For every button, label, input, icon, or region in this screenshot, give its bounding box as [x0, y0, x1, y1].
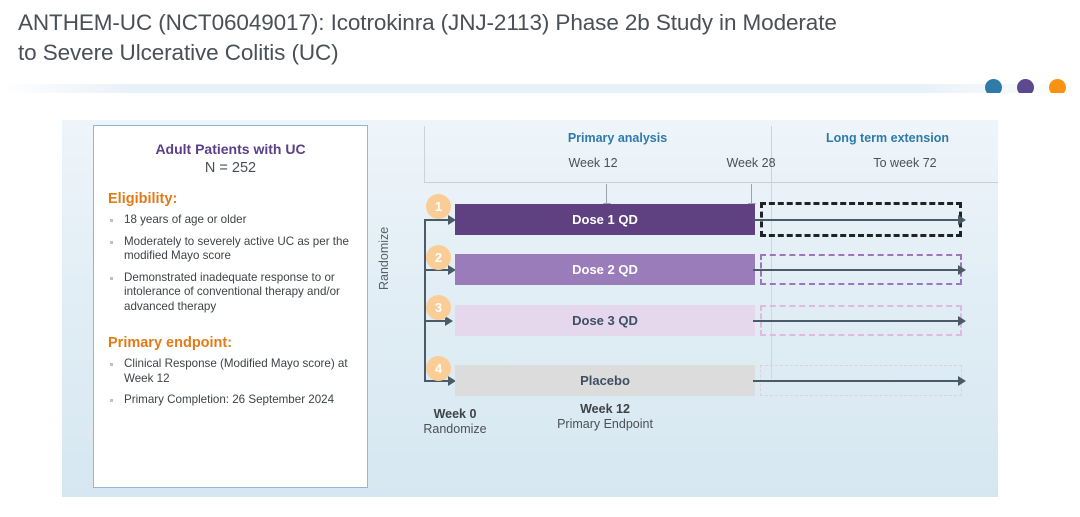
- arm-1-number-badge: 1: [426, 194, 451, 219]
- arm-4-number-badge: 4: [426, 356, 451, 381]
- arm-1-extension-arrow: [753, 219, 959, 221]
- card-title: Adult Patients with UC: [94, 126, 367, 158]
- phase-long-term-extension-title: Long term extension: [780, 131, 995, 145]
- phase-primary-analysis-title: Primary analysis: [525, 131, 710, 145]
- divider-under-headers: [424, 182, 998, 183]
- primary-endpoint-list: Clinical Response (Modified Mayo score) …: [94, 351, 367, 408]
- patient-info-card: Adult Patients with UC N = 252 Eligibili…: [93, 125, 368, 488]
- randomize-arm-1: [424, 219, 449, 221]
- list-item: Clinical Response (Modified Mayo score) …: [108, 357, 355, 386]
- arm-2-label: Dose 2 QD: [572, 262, 638, 277]
- content-stage: Adult Patients with UC N = 252 Eligibili…: [0, 93, 1080, 517]
- arm-2-extension-arrow: [753, 269, 959, 271]
- lte-duration-label: To week 72: [850, 156, 960, 170]
- arm-3-number-badge: 3: [426, 295, 451, 320]
- arm-1-bar: Dose 1 QD: [455, 204, 755, 235]
- arm-4-label: Placebo: [580, 373, 630, 388]
- arm-3-extension-arrow: [753, 320, 959, 322]
- page-title: ANTHEM-UC (NCT06049017): Icotrokinra (JN…: [18, 8, 1063, 68]
- arm-4-bar: Placebo: [455, 365, 755, 396]
- list-item: Primary Completion: 26 September 2024: [108, 393, 355, 408]
- divider-left: [424, 126, 425, 182]
- page-header: ANTHEM-UC (NCT06049017): Icotrokinra (JN…: [0, 0, 1080, 84]
- week-12-marker-label: Week 12: [548, 156, 638, 170]
- eligibility-list: 18 years of age or older Moderately to s…: [94, 207, 367, 314]
- randomize-label: Randomize: [377, 227, 391, 290]
- list-item: Moderately to severely active UC as per …: [108, 235, 355, 264]
- arm-1-label: Dose 1 QD: [572, 212, 638, 227]
- list-item: 18 years of age or older: [108, 213, 355, 228]
- eligibility-heading: Eligibility:: [94, 177, 367, 207]
- randomize-spine: [424, 219, 426, 381]
- arm-3-bar: Dose 3 QD: [455, 305, 755, 336]
- week-28-arrow-icon: [751, 184, 752, 204]
- week-28-marker-label: Week 28: [706, 156, 796, 170]
- week-0-sublabel: Randomize: [400, 422, 510, 436]
- card-subtitle: N = 252: [94, 158, 367, 177]
- arm-2-number-badge: 2: [426, 245, 451, 270]
- arm-3-label: Dose 3 QD: [572, 313, 638, 328]
- week-0-label: Week 0: [400, 407, 510, 421]
- week-12-sublabel: Primary Endpoint: [530, 417, 680, 431]
- header-divider: [0, 84, 1080, 93]
- arm-4-extension-arrow: [753, 380, 959, 382]
- arm-2-bar: Dose 2 QD: [455, 254, 755, 285]
- week-12-arrow-icon: [606, 184, 607, 204]
- randomize-arm-3: [424, 320, 446, 322]
- primary-endpoint-heading: Primary endpoint:: [94, 321, 367, 351]
- divider-phase: [771, 126, 772, 182]
- list-item: Demonstrated inadequate response to or i…: [108, 271, 355, 315]
- study-design-diagram: Primary analysis Long term extension Wee…: [380, 120, 998, 497]
- week-12-label: Week 12: [550, 402, 660, 416]
